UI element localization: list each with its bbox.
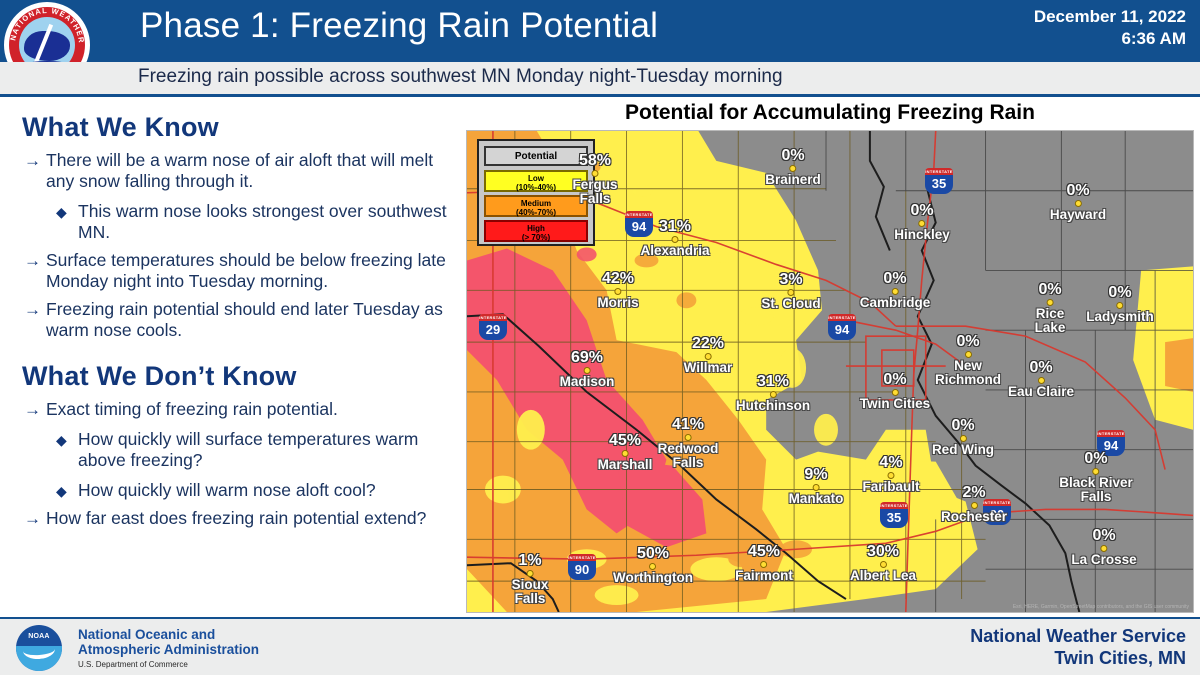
legend-label: Low	[486, 174, 586, 183]
bullet-item: ◆How quickly will surface temperatures w…	[56, 429, 448, 471]
diamond-bullet-icon: ◆	[56, 202, 67, 223]
map-title: Potential for Accumulating Freezing Rain	[466, 101, 1194, 125]
bullet-text: How far east does freezing rain potentia…	[46, 508, 426, 528]
bullet-item: →How far east does freezing rain potenti…	[24, 508, 448, 529]
bullet-item: →There will be a warm nose of air aloft …	[24, 150, 448, 192]
bullet-item: ◆How quickly will warm nose aloft cool?	[56, 480, 448, 501]
bullet-text: How quickly will warm nose aloft cool?	[78, 480, 376, 500]
interstate-shield-icon: INTERSTATE94	[828, 314, 856, 340]
interstate-shield-icon: INTERSTATE29	[479, 314, 507, 340]
bullet-item: →Freezing rain potential should end late…	[24, 299, 448, 341]
interstate-shield-icon: INTERSTATE35	[925, 168, 953, 194]
issuing-office: National Weather Service Twin Cities, MN	[970, 625, 1186, 669]
interstate-shield-icon: INTERSTATE94	[1097, 430, 1125, 456]
legend-label: High	[486, 224, 586, 233]
bullet-text: Surface temperatures should be below fre…	[46, 250, 446, 291]
what-we-dont-know-title: What We Don’t Know	[22, 361, 462, 392]
subheader-bar: Freezing rain possible across southwest …	[0, 62, 1200, 94]
header-time: 6:36 AM	[1034, 28, 1186, 50]
arrow-bullet-icon: →	[24, 508, 41, 529]
what-we-know-title: What We Know	[22, 112, 462, 143]
arrow-bullet-icon: →	[24, 150, 41, 171]
header-divider	[0, 94, 1200, 97]
legend-range: (> 70%)	[486, 233, 586, 242]
noaa-line-2: Atmospheric Administration	[78, 642, 259, 657]
header-datetime: December 11, 2022 6:36 AM	[1034, 6, 1186, 50]
bullet-item: →Exact timing of freezing rain potential…	[24, 399, 448, 420]
legend-range: (40%-70%)	[486, 208, 586, 217]
interstate-shield-icon: INTERSTATE90	[983, 499, 1011, 525]
legend-label: Medium	[486, 199, 586, 208]
left-text-panel: What We Know →There will be a warm nose …	[0, 100, 462, 615]
map-legend: Potential Low(10%-40%)Medium(40%-70%)Hig…	[477, 139, 595, 246]
legend-item-medium: Medium(40%-70%)	[484, 195, 588, 217]
subheader-text: Freezing rain possible across southwest …	[138, 66, 783, 88]
noaa-line-1: National Oceanic and	[78, 627, 259, 642]
page-title: Phase 1: Freezing Rain Potential	[140, 6, 658, 46]
map-attribution: Esri, HERE, Garmin, OpenStreetMap contri…	[1013, 604, 1189, 610]
diamond-bullet-icon: ◆	[56, 481, 67, 502]
legend-item-low: Low(10%-40%)	[484, 170, 588, 192]
bullet-text: Freezing rain potential should end later…	[46, 299, 443, 340]
noaa-wordmark: NOAA	[26, 633, 52, 640]
interstate-shield-icon: INTERSTATE90	[568, 554, 596, 580]
arrow-bullet-icon: →	[24, 299, 41, 320]
bullet-text: There will be a warm nose of air aloft t…	[46, 150, 433, 191]
what-we-dont-know-list: →Exact timing of freezing rain potential…	[0, 399, 462, 529]
what-we-know-list: →There will be a warm nose of air aloft …	[0, 150, 462, 341]
noaa-agency-text: National Oceanic and Atmospheric Adminis…	[78, 627, 259, 669]
bullet-item: ◆This warm nose looks strongest over sou…	[56, 201, 448, 243]
arrow-bullet-icon: →	[24, 399, 41, 420]
bullet-text: How quickly will surface temperatures wa…	[78, 429, 418, 470]
diamond-bullet-icon: ◆	[56, 430, 67, 451]
bullet-text: Exact timing of freezing rain potential.	[46, 399, 338, 419]
bullet-item: →Surface temperatures should be below fr…	[24, 250, 448, 292]
noaa-line-3: U.S. Department of Commerce	[78, 660, 259, 669]
office-name: National Weather Service	[970, 625, 1186, 647]
header-date: December 11, 2022	[1034, 6, 1186, 28]
legend-item-high: High(> 70%)	[484, 220, 588, 242]
interstate-shield-icon: INTERSTATE94	[625, 211, 653, 237]
legend-range: (10%-40%)	[486, 183, 586, 192]
arrow-bullet-icon: →	[24, 250, 41, 271]
legend-title: Potential	[484, 146, 588, 166]
header-bar: ★ ★ ★ NATIONAL WEATHER SERV Phase 1: Fre…	[0, 0, 1200, 62]
interstate-shield-icon: INTERSTATE35	[880, 502, 908, 528]
freezing-rain-graphic: ★ ★ ★ NATIONAL WEATHER SERV Phase 1: Fre…	[0, 0, 1200, 675]
office-location: Twin Cities, MN	[970, 647, 1186, 669]
freezing-rain-probability-map[interactable]: Potential Low(10%-40%)Medium(40%-70%)Hig…	[466, 130, 1194, 613]
bullet-text: This warm nose looks strongest over sout…	[78, 201, 447, 242]
svg-text:NATIONAL WEATHER SERV: NATIONAL WEATHER SERV	[6, 4, 86, 44]
noaa-logo-icon: NOAA	[16, 625, 62, 671]
footer-bar: NOAA National Oceanic and Atmospheric Ad…	[0, 617, 1200, 675]
